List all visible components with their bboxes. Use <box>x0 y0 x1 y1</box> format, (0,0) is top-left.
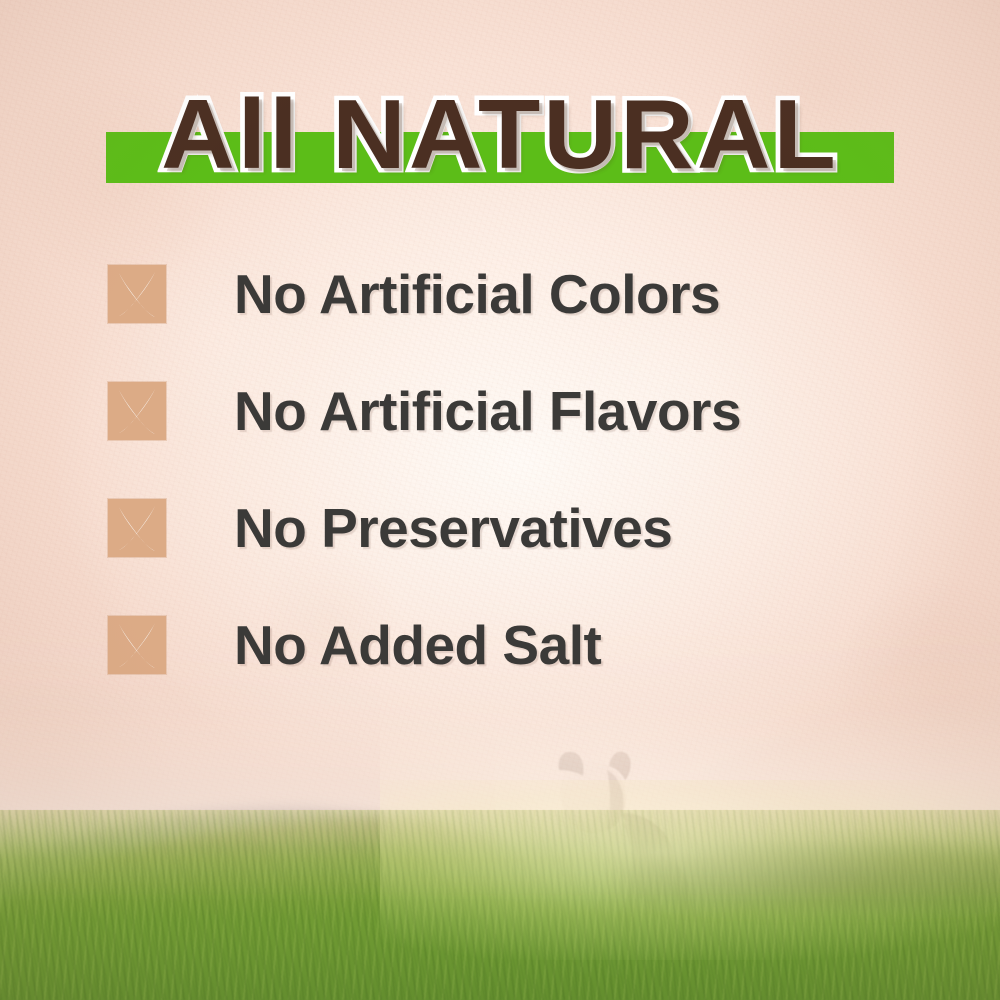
feature-label: No Preservatives <box>234 501 672 556</box>
x-mark-icon <box>108 616 166 674</box>
feature-label: No Added Salt <box>234 618 601 673</box>
landscape-photo <box>0 620 1000 1000</box>
feature-row: No Artificial Colors <box>108 264 908 324</box>
x-mark-icon <box>108 265 166 323</box>
feature-list: No Artificial Colors No Artificial Flavo… <box>108 264 908 675</box>
feature-row: No Preservatives <box>108 498 908 558</box>
feature-row: No Artificial Flavors <box>108 381 908 441</box>
feature-row: No Added Salt <box>108 615 908 675</box>
foreground-shadow <box>620 842 1000 912</box>
headline-banner: All NATURAL <box>106 76 894 192</box>
feature-label: No Artificial Colors <box>234 267 720 322</box>
all-natural-feature-panel: All NATURAL No Artificial Colors No Arti… <box>0 0 1000 1000</box>
x-mark-icon <box>108 382 166 440</box>
x-mark-icon <box>108 499 166 557</box>
feature-label: No Artificial Flavors <box>234 384 741 439</box>
headline-title: All NATURAL <box>90 76 910 192</box>
